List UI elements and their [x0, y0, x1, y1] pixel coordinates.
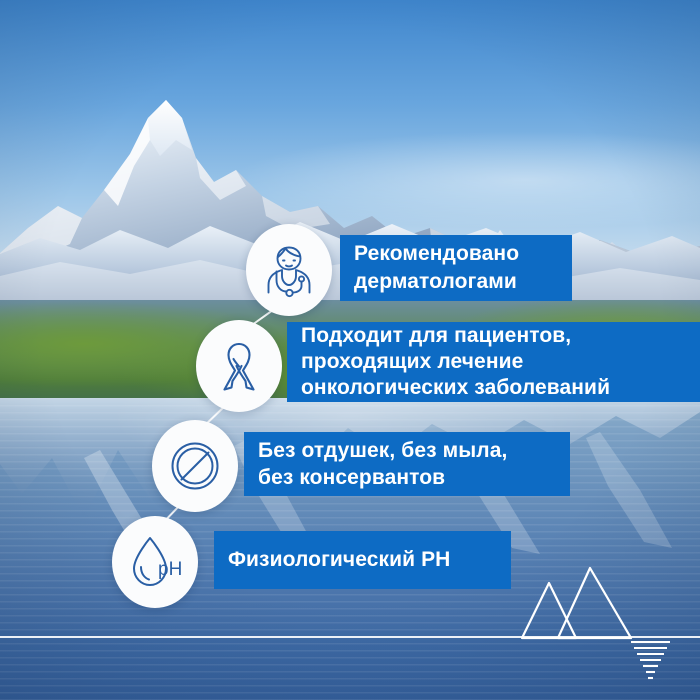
doctor-stethoscope-icon: [262, 242, 316, 298]
feature-chip-3: Без отдушек, без мыла, без консервантов: [244, 432, 570, 496]
feature-badge-1[interactable]: [246, 224, 332, 316]
poster-canvas: Рекомендовано дерматологами Подходит для…: [0, 0, 700, 700]
ph-label: pH: [158, 559, 182, 580]
feature-1-line-1: Рекомендовано: [354, 240, 558, 268]
feature-2-line-3: онкологических заболеваний: [301, 375, 686, 401]
feature-badge-3[interactable]: [152, 420, 238, 512]
feature-chip-2: Подходит для пациентов, проходящих лечен…: [287, 322, 700, 402]
mountain-reflection-logo: [500, 560, 700, 700]
feature-badge-4[interactable]: pH: [112, 516, 198, 608]
prohibition-circle-icon: [168, 439, 222, 493]
feature-badge-2[interactable]: [196, 320, 282, 412]
feature-chip-4: Физиологический PH: [214, 531, 511, 589]
feature-4-line-1: Физиологический PH: [228, 547, 497, 573]
feature-2-line-1: Подходит для пациентов,: [301, 323, 686, 349]
water-drop-ph-icon: pH: [128, 533, 182, 591]
feature-1-line-2: дерматологами: [354, 268, 558, 296]
feature-3-line-2: без консервантов: [258, 464, 556, 491]
feature-2-line-2: проходящих лечение: [301, 349, 686, 375]
feature-chip-1: Рекомендовано дерматологами: [340, 235, 572, 301]
awareness-ribbon-icon: [214, 338, 264, 394]
feature-3-line-1: Без отдушек, без мыла,: [258, 437, 556, 464]
